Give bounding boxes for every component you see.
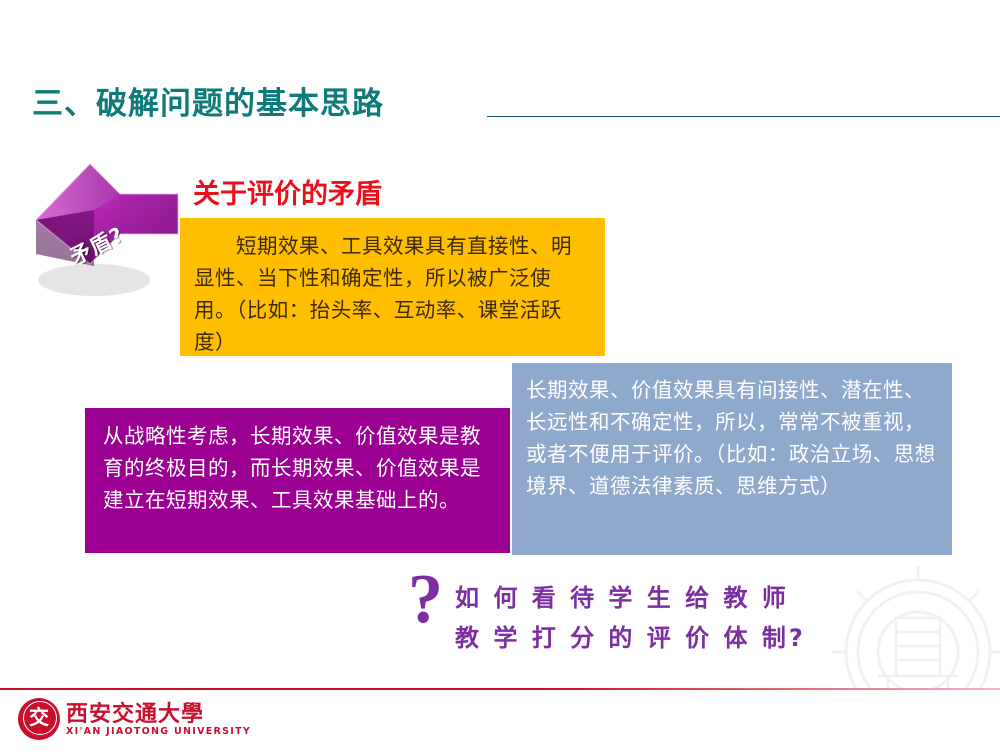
callout-box-blue: 长期效果、价值效果具有间接性、潜在性、长远性和不确定性，所以，常常不被重视，或者… [512, 363, 952, 555]
page-title: 三、破解问题的基本思路 [32, 78, 384, 123]
question-mark-icon: ? [408, 565, 443, 635]
title-underline-rule [487, 116, 1000, 117]
university-logo: 交 西安交通大學 XI'AN JIAOTONG UNIVERSITY [18, 696, 193, 744]
question-text: 如 何 看 待 学 生 给 教 师 教 学 打 分 的 评 价 体 制? [455, 578, 806, 658]
slide-canvas: 三、破解问题的基本思路 [0, 0, 1000, 750]
callout-blue-text: 长期效果、价值效果具有间接性、潜在性、长远性和不确定性，所以，常常不被重视，或者… [526, 374, 940, 502]
callout-yellow-text: 短期效果、工具效果具有直接性、明显性、当下性和确定性，所以被广泛使用。（比如：抬… [194, 230, 591, 358]
logo-english-name: XI'AN JIAOTONG UNIVERSITY [66, 726, 251, 737]
logo-seal-glyph: 交 [18, 701, 60, 733]
callout-purple-text: 从战略性考虑，长期效果、价值效果是教育的终极目的，而长期效果、价值效果是建立在短… [103, 420, 494, 516]
subheading: 关于评价的矛盾 [193, 172, 382, 211]
logo-chinese-name: 西安交通大學 [66, 696, 204, 728]
arrow-badge: 矛盾? [28, 158, 198, 308]
callout-box-purple: 从战略性考虑，长期效果、价值效果是教育的终极目的，而长期效果、价值效果是建立在短… [85, 408, 510, 553]
callout-box-yellow: 短期效果、工具效果具有直接性、明显性、当下性和确定性，所以被广泛使用。（比如：抬… [180, 218, 605, 356]
